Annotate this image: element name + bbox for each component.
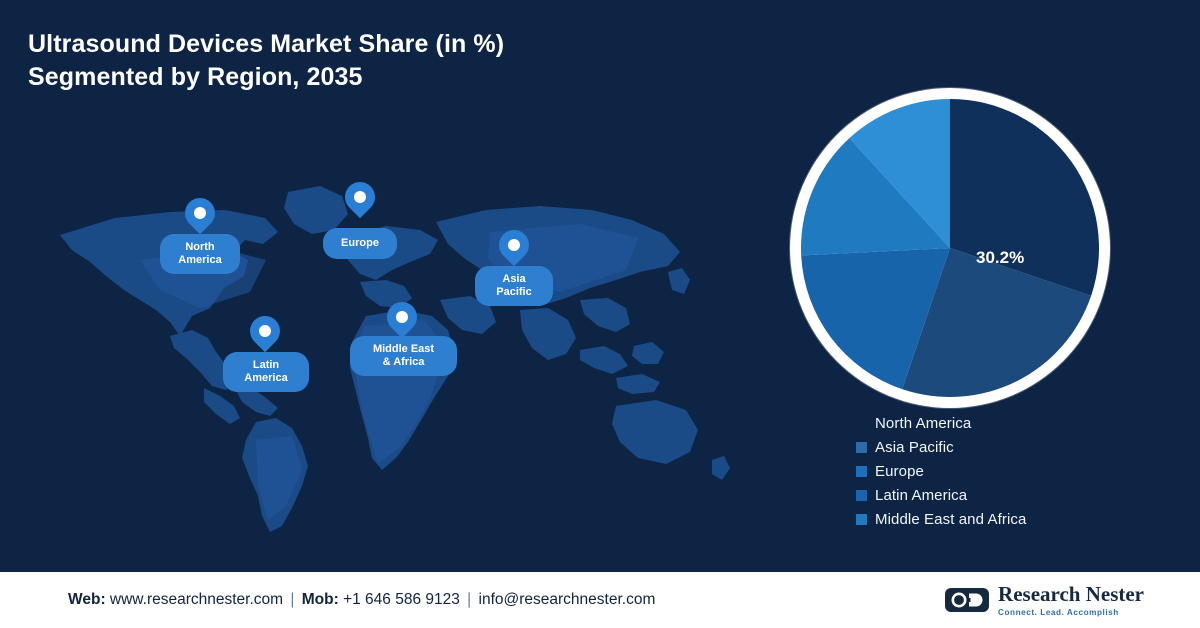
chart-legend: North America Asia Pacific Europe Latin … xyxy=(856,412,1176,532)
pie-chart-slices xyxy=(801,99,1099,397)
map-label-north-america[interactable]: North America xyxy=(160,234,240,274)
footer-email[interactable]: info@researchnester.com xyxy=(479,591,656,608)
brand-logo[interactable]: Research Nester Connect. Lead. Accomplis… xyxy=(945,584,1144,617)
brand-tagline: Connect. Lead. Accomplish xyxy=(998,608,1144,617)
page-title-line-1: Ultrasound Devices Market Share (in %) xyxy=(28,30,504,58)
legend-label: Asia Pacific xyxy=(875,439,954,456)
legend-swatch-icon xyxy=(856,418,867,429)
map-label-middle-east-africa[interactable]: Middle East & Africa xyxy=(350,336,457,376)
world-map: North America Europe Asia Pacific Latin … xyxy=(20,140,750,540)
brand-text: Research Nester Connect. Lead. Accomplis… xyxy=(998,584,1144,617)
legend-swatch-icon xyxy=(856,514,867,525)
map-label-asia-pacific[interactable]: Asia Pacific xyxy=(475,266,553,306)
map-label-europe[interactable]: Europe xyxy=(323,228,397,259)
footer-separator: | xyxy=(464,591,474,608)
research-nester-mark-icon xyxy=(945,587,989,613)
map-pin-dot-icon xyxy=(259,325,271,337)
legend-item-middle-east-and-africa[interactable]: Middle East and Africa xyxy=(856,508,1176,531)
map-pin-dot-icon xyxy=(508,239,520,251)
pie-slice-value-north-america: 30.2% xyxy=(976,248,1024,268)
legend-item-latin-america[interactable]: Latin America xyxy=(856,484,1176,507)
legend-item-north-america[interactable]: North America xyxy=(856,412,1176,435)
map-pin-north-america[interactable] xyxy=(185,198,215,238)
footer-mob-label: Mob: xyxy=(302,591,339,608)
legend-label: Europe xyxy=(875,463,924,480)
page-title: Ultrasound Devices Market Share (in %) S… xyxy=(28,28,728,94)
poster-canvas: Ultrasound Devices Market Share (in %) S… xyxy=(0,0,1200,628)
map-pin-dot-icon xyxy=(396,311,408,323)
page-title-line-2: Segmented by Region, 2035 xyxy=(28,61,728,94)
legend-label: Latin America xyxy=(875,487,967,504)
legend-label: North America xyxy=(875,415,971,432)
legend-item-asia-pacific[interactable]: Asia Pacific xyxy=(856,436,1176,459)
map-label-latin-america[interactable]: Latin America xyxy=(223,352,309,392)
map-pin-dot-icon xyxy=(354,191,366,203)
footer-web-value[interactable]: www.researchnester.com xyxy=(110,591,283,608)
footer-mob-value[interactable]: +1 646 586 9123 xyxy=(343,591,460,608)
brand-name: Research Nester xyxy=(998,584,1144,605)
map-pin-asia-pacific[interactable] xyxy=(499,230,529,270)
footer-separator: | xyxy=(287,591,297,608)
footer-web-label: Web: xyxy=(68,591,106,608)
legend-swatch-icon xyxy=(856,466,867,477)
map-pin-dot-icon xyxy=(194,207,206,219)
legend-label: Middle East and Africa xyxy=(875,511,1026,528)
map-pin-latin-america[interactable] xyxy=(250,316,280,356)
footer-contact: Web: www.researchnester.com | Mob: +1 64… xyxy=(68,591,655,609)
legend-swatch-icon xyxy=(856,442,867,453)
footer-bar: Web: www.researchnester.com | Mob: +1 64… xyxy=(0,572,1200,628)
pie-chart: 30.2% xyxy=(790,88,1110,408)
map-pin-europe[interactable] xyxy=(345,182,375,222)
legend-item-europe[interactable]: Europe xyxy=(856,460,1176,483)
legend-swatch-icon xyxy=(856,490,867,501)
